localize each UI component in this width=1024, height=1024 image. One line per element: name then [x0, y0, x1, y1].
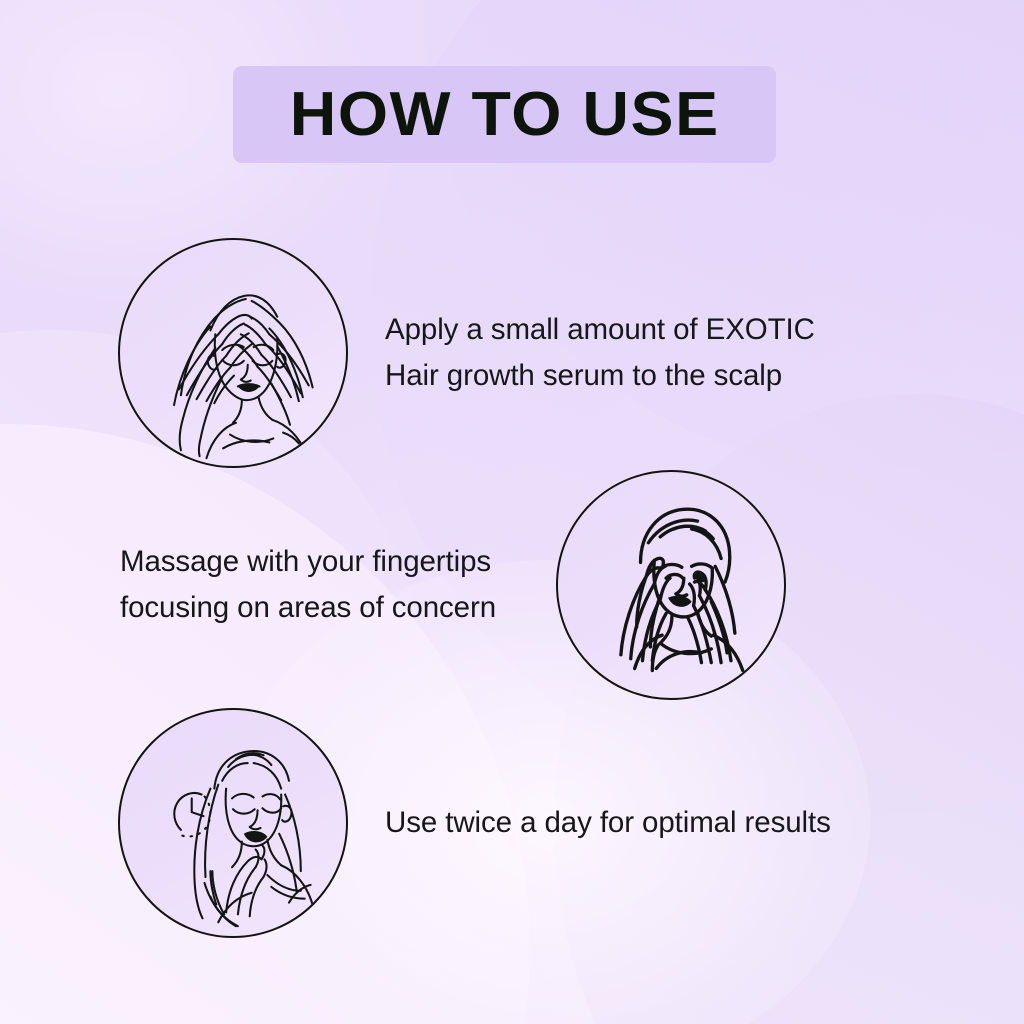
step-2-illustration-circle — [556, 470, 786, 700]
woman-massaging-sides-icon — [558, 472, 784, 698]
step-1-illustration-circle — [118, 238, 348, 468]
how-to-use-poster: HOW TO USE — [0, 0, 1024, 1024]
woman-with-clock-touching-hair-icon — [120, 710, 346, 936]
step-3-illustration-circle — [118, 708, 348, 938]
step-3: Use twice a day for optimal results — [118, 708, 831, 938]
step-1-text: Apply a small amount of EXOTIC Hair grow… — [385, 307, 815, 398]
page-title: HOW TO USE — [290, 84, 720, 146]
step-1: Apply a small amount of EXOTIC Hair grow… — [118, 238, 815, 468]
title-highlight-band: HOW TO USE — [233, 66, 776, 163]
woman-massaging-scalp-icon — [120, 240, 346, 466]
step-2-text: Massage with your fingertips focusing on… — [120, 539, 496, 630]
step-3-text: Use twice a day for optimal results — [385, 800, 831, 846]
step-2: Massage with your fingertips focusing on… — [120, 470, 786, 700]
